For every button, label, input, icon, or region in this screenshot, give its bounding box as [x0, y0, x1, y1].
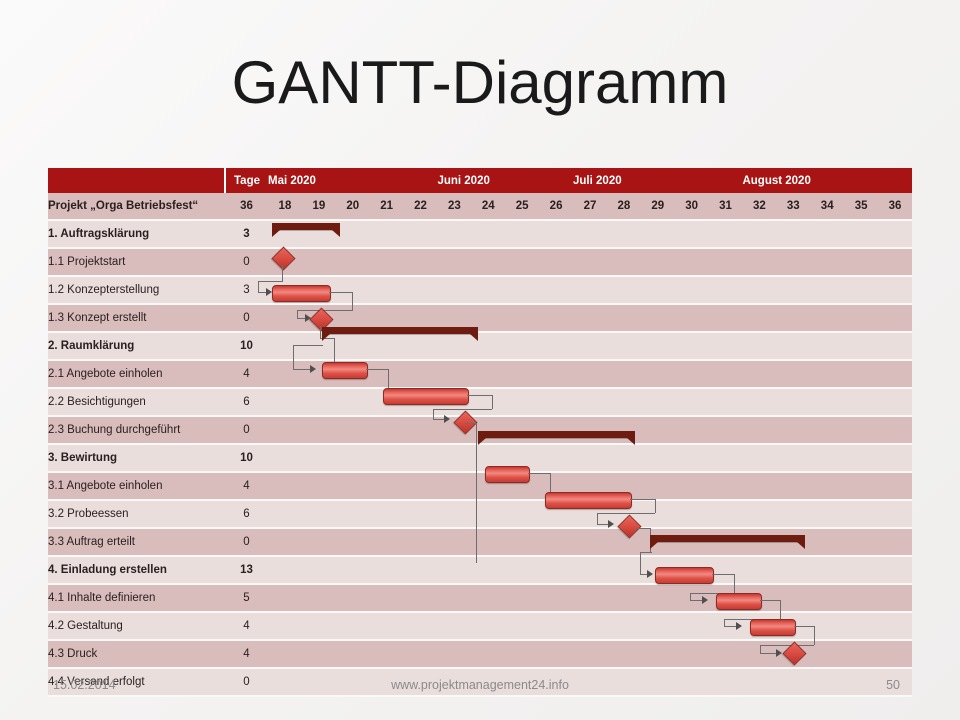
timeline-cell	[776, 501, 810, 527]
timeline-cell	[776, 277, 810, 303]
table-row[interactable]: 4.1 Inhalte definieren5	[48, 585, 912, 611]
timeline-cell	[539, 305, 573, 331]
timeline-cell	[268, 277, 302, 303]
timeline-cell	[505, 613, 539, 639]
timeline-cell	[437, 389, 471, 415]
table-row[interactable]: Projekt „Orga Betriebsfest“3618192021222…	[48, 193, 912, 219]
timeline-cell	[675, 389, 709, 415]
timeline-cell	[336, 529, 370, 555]
timeline-cell	[709, 529, 743, 555]
week-header-27: 27	[573, 193, 607, 219]
timeline-cell	[302, 501, 336, 527]
timeline-cell	[268, 221, 302, 247]
timeline-cell	[505, 641, 539, 667]
timeline-cell	[742, 557, 776, 583]
timeline-cell	[607, 277, 641, 303]
timeline-cell	[471, 361, 505, 387]
timeline-cell	[336, 221, 370, 247]
timeline-cell	[437, 277, 471, 303]
row-days: 10	[225, 333, 268, 359]
timeline-cell	[776, 585, 810, 611]
timeline-cell	[404, 417, 438, 443]
timeline-cell	[607, 613, 641, 639]
timeline-cell	[742, 277, 776, 303]
timeline-cell	[607, 473, 641, 499]
timeline-cell	[437, 613, 471, 639]
timeline-cell	[776, 417, 810, 443]
table-row[interactable]: 4. Einladung erstellen13	[48, 557, 912, 583]
timeline-cell	[675, 305, 709, 331]
timeline-cell	[437, 361, 471, 387]
timeline-cell	[268, 501, 302, 527]
timeline-cell	[505, 221, 539, 247]
week-header-29: 29	[641, 193, 675, 219]
timeline-cell	[268, 529, 302, 555]
timeline-cell	[641, 613, 675, 639]
header-month-juni: Juni 2020	[437, 168, 573, 193]
timeline-cell	[336, 361, 370, 387]
timeline-cell	[675, 361, 709, 387]
timeline-cell	[641, 277, 675, 303]
timeline-cell	[437, 333, 471, 359]
row-days: 0	[225, 417, 268, 443]
timeline-cell	[810, 473, 844, 499]
row-days: 13	[225, 557, 268, 583]
timeline-cell	[404, 361, 438, 387]
timeline-cell	[302, 277, 336, 303]
timeline-cell	[742, 389, 776, 415]
week-header-26: 26	[539, 193, 573, 219]
week-header-18: 18	[268, 193, 302, 219]
timeline-cell	[709, 557, 743, 583]
timeline-cell	[302, 333, 336, 359]
timeline-cell	[471, 445, 505, 471]
header-month-juli: Juli 2020	[573, 168, 742, 193]
row-label: Projekt „Orga Betriebsfest“	[48, 193, 225, 219]
timeline-cell	[844, 501, 878, 527]
timeline-cell	[471, 585, 505, 611]
timeline-cell	[505, 445, 539, 471]
timeline-cell	[641, 529, 675, 555]
timeline-cell	[607, 641, 641, 667]
week-header-34: 34	[810, 193, 844, 219]
timeline-cell	[370, 557, 404, 583]
timeline-cell	[810, 389, 844, 415]
timeline-cell	[742, 305, 776, 331]
timeline-cell	[370, 305, 404, 331]
timeline-cell	[844, 249, 878, 275]
timeline-cell	[844, 277, 878, 303]
timeline-cell	[437, 641, 471, 667]
timeline-cell	[404, 249, 438, 275]
timeline-cell	[709, 389, 743, 415]
timeline-cell	[505, 501, 539, 527]
timeline-cell	[370, 585, 404, 611]
timeline-cell	[539, 613, 573, 639]
gantt-table-body: Projekt „Orga Betriebsfest“3618192021222…	[48, 193, 912, 697]
table-row[interactable]: 4.2 Gestaltung4	[48, 613, 912, 639]
timeline-cell	[302, 221, 336, 247]
timeline-cell	[878, 473, 912, 499]
timeline-cell	[404, 641, 438, 667]
timeline-cell	[573, 641, 607, 667]
row-days: 3	[225, 277, 268, 303]
timeline-cell	[505, 417, 539, 443]
table-row[interactable]: 2.2 Besichtigungen6	[48, 389, 912, 415]
timeline-cell	[709, 585, 743, 611]
timeline-cell	[539, 249, 573, 275]
row-days: 4	[225, 613, 268, 639]
footer-page: 50	[886, 678, 900, 692]
timeline-cell	[641, 361, 675, 387]
timeline-cell	[404, 473, 438, 499]
timeline-cell	[302, 585, 336, 611]
timeline-cell	[810, 641, 844, 667]
timeline-cell	[505, 529, 539, 555]
timeline-cell	[573, 473, 607, 499]
header-name-col	[48, 168, 225, 193]
timeline-cell	[878, 305, 912, 331]
timeline-cell	[471, 417, 505, 443]
timeline-cell	[404, 305, 438, 331]
timeline-cell	[776, 389, 810, 415]
timeline-cell	[878, 361, 912, 387]
timeline-cell	[268, 249, 302, 275]
timeline-cell	[268, 305, 302, 331]
timeline-cell	[302, 445, 336, 471]
row-days: 4	[225, 473, 268, 499]
timeline-cell	[302, 417, 336, 443]
row-label: 2.1 Angebote einholen	[48, 361, 225, 387]
timeline-cell	[302, 249, 336, 275]
row-label: 1.2 Konzepterstellung	[48, 277, 225, 303]
timeline-cell	[370, 613, 404, 639]
timeline-cell	[641, 417, 675, 443]
week-header-25: 25	[505, 193, 539, 219]
timeline-cell	[336, 389, 370, 415]
timeline-cell	[675, 417, 709, 443]
timeline-cell	[505, 389, 539, 415]
timeline-cell	[336, 333, 370, 359]
timeline-cell	[607, 501, 641, 527]
header-month-august: August 2020	[742, 168, 912, 193]
timeline-cell	[641, 305, 675, 331]
timeline-cell	[268, 361, 302, 387]
timeline-cell	[844, 221, 878, 247]
table-row[interactable]: 2.3 Buchung durchgeführt0	[48, 417, 912, 443]
timeline-cell	[302, 305, 336, 331]
timeline-cell	[302, 557, 336, 583]
timeline-cell	[810, 445, 844, 471]
timeline-cell	[844, 389, 878, 415]
timeline-cell	[336, 641, 370, 667]
timeline-cell	[302, 641, 336, 667]
timeline-cell	[573, 557, 607, 583]
row-label: 1.1 Projektstart	[48, 249, 225, 275]
timeline-cell	[844, 585, 878, 611]
timeline-cell	[675, 249, 709, 275]
row-label: 3.1 Angebote einholen	[48, 473, 225, 499]
timeline-cell	[709, 613, 743, 639]
timeline-cell	[336, 557, 370, 583]
timeline-cell	[471, 333, 505, 359]
timeline-cell	[437, 417, 471, 443]
timeline-cell	[471, 221, 505, 247]
timeline-cell	[878, 417, 912, 443]
timeline-cell	[709, 641, 743, 667]
timeline-cell	[776, 333, 810, 359]
timeline-cell	[709, 417, 743, 443]
row-label: 3. Bewirtung	[48, 445, 225, 471]
timeline-cell	[404, 221, 438, 247]
timeline-cell	[539, 557, 573, 583]
timeline-cell	[505, 557, 539, 583]
timeline-cell	[404, 613, 438, 639]
timeline-cell	[742, 333, 776, 359]
timeline-cell	[810, 277, 844, 303]
timeline-cell	[810, 333, 844, 359]
timeline-cell	[268, 445, 302, 471]
timeline-cell	[641, 585, 675, 611]
timeline-cell	[709, 277, 743, 303]
footer-url: www.projektmanagement24.info	[0, 678, 960, 692]
timeline-cell	[336, 417, 370, 443]
table-row[interactable]: 3. Bewirtung10	[48, 445, 912, 471]
timeline-cell	[505, 473, 539, 499]
timeline-cell	[268, 613, 302, 639]
timeline-cell	[810, 501, 844, 527]
timeline-cell	[675, 445, 709, 471]
timeline-cell	[709, 333, 743, 359]
table-row[interactable]: 1.1 Projektstart0	[48, 249, 912, 275]
timeline-cell	[776, 473, 810, 499]
week-header-30: 30	[675, 193, 709, 219]
timeline-cell	[404, 529, 438, 555]
timeline-cell	[471, 529, 505, 555]
timeline-cell	[404, 445, 438, 471]
timeline-cell	[539, 361, 573, 387]
timeline-cell	[573, 501, 607, 527]
timeline-cell	[810, 305, 844, 331]
timeline-cell	[268, 333, 302, 359]
timeline-cell	[810, 613, 844, 639]
timeline-cell	[776, 249, 810, 275]
row-days: 10	[225, 445, 268, 471]
timeline-cell	[641, 501, 675, 527]
timeline-cell	[675, 641, 709, 667]
timeline-cell	[302, 529, 336, 555]
timeline-cell	[404, 333, 438, 359]
timeline-cell	[776, 221, 810, 247]
timeline-cell	[302, 361, 336, 387]
timeline-cell	[370, 501, 404, 527]
timeline-cell	[878, 501, 912, 527]
timeline-cell	[370, 641, 404, 667]
timeline-cell	[573, 417, 607, 443]
timeline-cell	[607, 361, 641, 387]
timeline-cell	[844, 613, 878, 639]
timeline-cell	[539, 445, 573, 471]
timeline-cell	[370, 333, 404, 359]
timeline-cell	[268, 473, 302, 499]
page-title: GANTT-Diagramm	[0, 48, 960, 117]
row-label: 2. Raumklärung	[48, 333, 225, 359]
header-days-col: Tage	[225, 168, 268, 193]
table-row[interactable]: 3.1 Angebote einholen4	[48, 473, 912, 499]
timeline-cell	[539, 585, 573, 611]
table-row[interactable]: 3.3 Auftrag erteilt0	[48, 529, 912, 555]
timeline-cell	[641, 249, 675, 275]
timeline-cell	[641, 389, 675, 415]
timeline-cell	[370, 445, 404, 471]
timeline-cell	[471, 277, 505, 303]
timeline-cell	[844, 361, 878, 387]
timeline-cell	[742, 641, 776, 667]
timeline-cell	[607, 221, 641, 247]
table-row[interactable]: 2.1 Angebote einholen4	[48, 361, 912, 387]
timeline-cell	[370, 361, 404, 387]
table-row[interactable]: 3.2 Probeessen6	[48, 501, 912, 527]
timeline-cell	[675, 529, 709, 555]
timeline-cell	[505, 585, 539, 611]
timeline-cell	[878, 445, 912, 471]
timeline-cell	[370, 277, 404, 303]
row-label: 4. Einladung erstellen	[48, 557, 225, 583]
timeline-cell	[742, 417, 776, 443]
timeline-cell	[370, 529, 404, 555]
timeline-cell	[641, 641, 675, 667]
row-label: 4.2 Gestaltung	[48, 613, 225, 639]
timeline-cell	[370, 389, 404, 415]
timeline-cell	[573, 389, 607, 415]
week-header-21: 21	[370, 193, 404, 219]
timeline-cell	[878, 613, 912, 639]
timeline-cell	[607, 333, 641, 359]
timeline-cell	[675, 221, 709, 247]
week-header-33: 33	[776, 193, 810, 219]
timeline-cell	[607, 557, 641, 583]
timeline-cell	[370, 417, 404, 443]
timeline-cell	[370, 221, 404, 247]
timeline-cell	[336, 445, 370, 471]
timeline-cell	[776, 641, 810, 667]
timeline-cell	[471, 389, 505, 415]
timeline-cell	[336, 249, 370, 275]
timeline-cell	[573, 333, 607, 359]
timeline-cell	[471, 501, 505, 527]
timeline-cell	[709, 221, 743, 247]
timeline-cell	[878, 585, 912, 611]
timeline-cell	[437, 221, 471, 247]
table-row[interactable]: 1.2 Konzepterstellung3	[48, 277, 912, 303]
timeline-cell	[268, 585, 302, 611]
timeline-cell	[505, 361, 539, 387]
timeline-cell	[675, 501, 709, 527]
row-days: 5	[225, 585, 268, 611]
timeline-cell	[844, 305, 878, 331]
timeline-cell	[268, 389, 302, 415]
table-row[interactable]: 1.3 Konzept erstellt0	[48, 305, 912, 331]
timeline-cell	[336, 473, 370, 499]
week-header-31: 31	[709, 193, 743, 219]
timeline-cell	[607, 445, 641, 471]
timeline-cell	[776, 361, 810, 387]
timeline-cell	[709, 445, 743, 471]
timeline-cell	[471, 641, 505, 667]
timeline-cell	[471, 249, 505, 275]
timeline-cell	[776, 613, 810, 639]
row-label: 3.3 Auftrag erteilt	[48, 529, 225, 555]
timeline-cell	[437, 501, 471, 527]
timeline-cell	[437, 249, 471, 275]
row-days: 6	[225, 389, 268, 415]
timeline-cell	[437, 473, 471, 499]
timeline-cell	[404, 501, 438, 527]
row-label: 3.2 Probeessen	[48, 501, 225, 527]
row-label: 2.3 Buchung durchgeführt	[48, 417, 225, 443]
timeline-cell	[539, 417, 573, 443]
timeline-cell	[878, 557, 912, 583]
week-header-20: 20	[336, 193, 370, 219]
timeline-cell	[878, 389, 912, 415]
timeline-cell	[709, 501, 743, 527]
timeline-cell	[404, 277, 438, 303]
timeline-cell	[336, 585, 370, 611]
timeline-cell	[539, 221, 573, 247]
timeline-cell	[437, 529, 471, 555]
timeline-cell	[336, 277, 370, 303]
row-label: 2.2 Besichtigungen	[48, 389, 225, 415]
timeline-cell	[844, 473, 878, 499]
timeline-cell	[302, 389, 336, 415]
timeline-cell	[810, 585, 844, 611]
timeline-cell	[742, 473, 776, 499]
timeline-cell	[641, 221, 675, 247]
timeline-cell	[573, 277, 607, 303]
timeline-cell	[742, 445, 776, 471]
gantt-table-head: Tage Mai 2020 Juni 2020 Juli 2020 August…	[48, 168, 912, 193]
timeline-cell	[742, 221, 776, 247]
row-days: 0	[225, 249, 268, 275]
timeline-cell	[471, 613, 505, 639]
timeline-cell	[573, 361, 607, 387]
timeline-cell	[370, 473, 404, 499]
timeline-cell	[539, 277, 573, 303]
timeline-cell	[810, 417, 844, 443]
table-row[interactable]: 1. Auftragsklärung3	[48, 221, 912, 247]
timeline-cell	[302, 613, 336, 639]
timeline-cell	[404, 585, 438, 611]
row-label: 1. Auftragsklärung	[48, 221, 225, 247]
timeline-cell	[776, 529, 810, 555]
timeline-cell	[607, 417, 641, 443]
timeline-cell	[742, 249, 776, 275]
timeline-cell	[539, 389, 573, 415]
week-header-19: 19	[302, 193, 336, 219]
row-days: 4	[225, 641, 268, 667]
timeline-cell	[776, 305, 810, 331]
timeline-cell	[844, 641, 878, 667]
timeline-cell	[641, 333, 675, 359]
timeline-cell	[573, 445, 607, 471]
table-row[interactable]: 2. Raumklärung10	[48, 333, 912, 359]
timeline-cell	[268, 417, 302, 443]
timeline-cell	[370, 249, 404, 275]
timeline-cell	[709, 249, 743, 275]
timeline-cell	[675, 277, 709, 303]
table-row[interactable]: 4.3 Druck4	[48, 641, 912, 667]
gantt-table: Tage Mai 2020 Juni 2020 Juli 2020 August…	[48, 168, 912, 697]
